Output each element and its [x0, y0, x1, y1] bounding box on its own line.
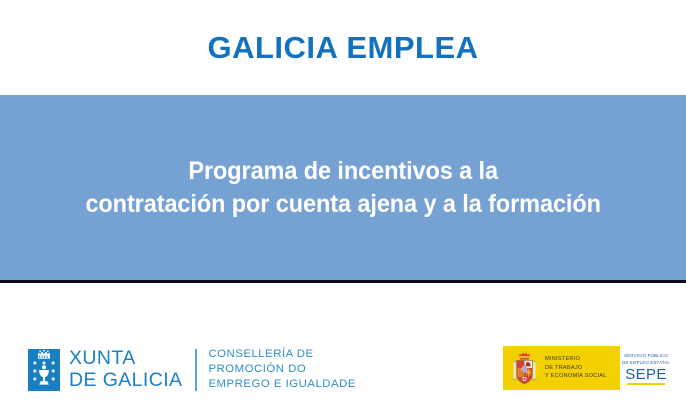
title-area: GALICIA EMPLEA [0, 0, 686, 95]
program-banner-line-2: contratación por cuenta ajena y a la for… [85, 188, 600, 221]
xunta-wordmark: XUNTA DE GALICIA [69, 348, 182, 392]
xunta-de-galicia-logo: XUNTA DE GALICIA CONSELLERÍA DE PROMOCIÓ… [28, 347, 356, 392]
ministerio-line-2: DE TRABAJO [545, 364, 607, 372]
sepe-caption: SERVICIO PÚBLICO DE EMPLEO ESTATAL [622, 353, 670, 366]
sepe-caption-line-1: SERVICIO PÚBLICO [622, 353, 670, 359]
conselleria-line-1: CONSELLERÍA DE [208, 347, 355, 362]
program-banner-line-1: Programa de incentivos a la [85, 155, 600, 188]
ministerio-de-trabajo-logo: MINISTERIO DE TRABAJO Y ECONOMÍA SOCIAL [503, 346, 620, 390]
xunta-wordmark-line-2: DE GALICIA [69, 370, 182, 392]
conselleria-line-3: EMPREGO E IGUALDADE [208, 377, 355, 392]
conselleria-line-2: PROMOCIÓN DO [208, 362, 355, 377]
government-of-spain-logos: MINISTERIO DE TRABAJO Y ECONOMÍA SOCIAL … [503, 346, 672, 390]
ministerio-line-3: Y ECONOMÍA SOCIAL [545, 372, 607, 380]
sepe-logo: SERVICIO PÚBLICO DE EMPLEO ESTATAL SEPE [620, 346, 672, 390]
sepe-underline [627, 383, 665, 385]
page-title: GALICIA EMPLEA [207, 32, 478, 63]
program-banner-text: Programa de incentivos a la contratación… [72, 155, 614, 221]
ministerio-name: MINISTERIO DE TRABAJO Y ECONOMÍA SOCIAL [545, 355, 607, 380]
sepe-wordmark: SEPE [625, 367, 667, 382]
xunta-de-galicia-coat-of-arms-icon [28, 349, 60, 391]
spain-coat-of-arms-icon [510, 350, 539, 386]
xunta-wordmark-line-1: XUNTA [69, 348, 182, 370]
logo-divider [195, 349, 197, 391]
program-banner: Programa de incentivos a la contratación… [0, 95, 686, 283]
conselleria-name: CONSELLERÍA DE PROMOCIÓN DO EMPREGO E IG… [208, 347, 355, 392]
ministerio-line-1: MINISTERIO [545, 355, 607, 363]
